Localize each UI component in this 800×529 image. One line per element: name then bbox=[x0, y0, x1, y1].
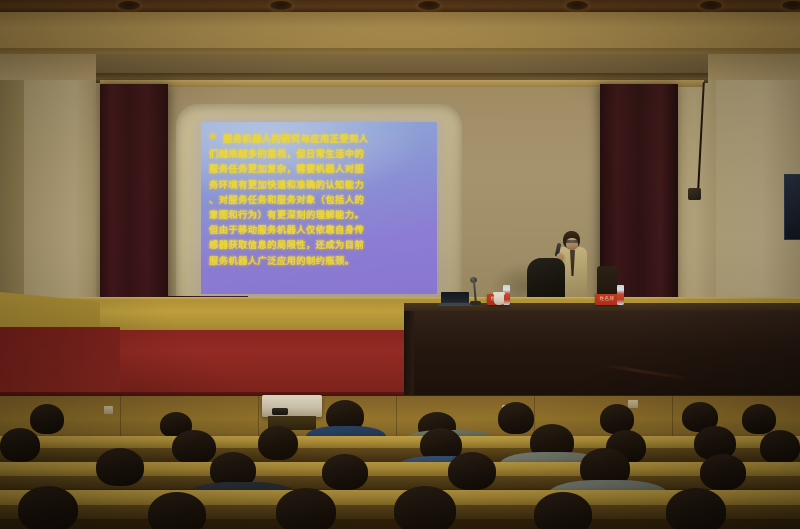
slide-line: 服务任务更加复杂，需要机器人对服 bbox=[209, 162, 429, 177]
slide-text-block: 服务机器人的研究与应用正受到人 们越来越多的重视，但日常生活中的 服务任务更加复… bbox=[201, 122, 437, 294]
desk-microphone-base bbox=[470, 301, 481, 305]
slide-line: 务环境有更加快速和准确的认知能力 bbox=[209, 178, 429, 193]
slide-line: 但由于移动服务机器人仅依靠自身传 bbox=[209, 223, 429, 238]
slide-line: 们越来越多的重视，但日常生活中的 bbox=[209, 147, 429, 162]
laptop-base bbox=[438, 303, 472, 306]
audience-head bbox=[448, 452, 496, 490]
audience-head bbox=[18, 486, 78, 529]
audience-head bbox=[148, 492, 206, 529]
audience-head bbox=[742, 404, 776, 434]
conference-table-side bbox=[404, 311, 414, 395]
downlight-icon bbox=[566, 1, 588, 10]
glasses-icon bbox=[566, 240, 578, 243]
wall-socket-icon bbox=[104, 406, 113, 414]
projected-slide: 服务机器人的研究与应用正受到人 们越来越多的重视，但日常生活中的 服务任务更加复… bbox=[201, 122, 437, 294]
audience-head bbox=[276, 488, 336, 529]
downlight-icon bbox=[782, 1, 800, 10]
audience-head bbox=[96, 448, 144, 486]
projector-lens-icon bbox=[272, 408, 288, 415]
audience-head bbox=[258, 426, 298, 460]
name-plate-label: 姓名牌 bbox=[595, 294, 619, 305]
audience-head bbox=[498, 402, 534, 434]
audience-head bbox=[172, 430, 216, 464]
downlight-icon bbox=[270, 1, 292, 10]
conference-table-skirt bbox=[404, 311, 800, 395]
camera-bracket-icon bbox=[688, 188, 701, 200]
projector bbox=[262, 395, 322, 417]
stage-curtain-left bbox=[100, 84, 168, 322]
audience-head bbox=[30, 404, 64, 434]
audience-head bbox=[666, 488, 726, 529]
downlight-icon bbox=[418, 1, 440, 10]
audience-head bbox=[322, 454, 368, 490]
slide-line: 服务机器人的研究与应用正受到人 bbox=[209, 132, 429, 147]
tea-cup-lid bbox=[493, 292, 505, 295]
slide-line: 服务机器人广泛应用的制约瓶颈。 bbox=[209, 254, 429, 269]
slide-line: 感器获取信息的局限性，还成为目前 bbox=[209, 238, 429, 253]
slide-line: 、对服务任务和服务对象（包括人的 bbox=[209, 193, 429, 208]
water-bottle bbox=[503, 285, 510, 305]
name-plate: 姓名牌 bbox=[595, 294, 619, 305]
audience-head bbox=[700, 454, 746, 490]
audience-head bbox=[0, 428, 40, 462]
downlight-icon bbox=[118, 1, 140, 10]
ceiling-beam bbox=[0, 12, 800, 50]
water-bottle bbox=[617, 285, 624, 305]
wall-monitor bbox=[784, 174, 800, 240]
tea-cup bbox=[494, 294, 504, 305]
audience-head bbox=[534, 492, 592, 529]
audience-head bbox=[760, 430, 800, 464]
auditorium-scene: 服务机器人的研究与应用正受到人 们越来越多的重视，但日常生活中的 服务任务更加复… bbox=[0, 0, 800, 529]
audience-head bbox=[394, 486, 456, 529]
downlight-icon bbox=[700, 1, 722, 10]
stage-floor-left bbox=[0, 327, 120, 397]
slide-line: 意图和行为）有更深刻的理解能力。 bbox=[209, 208, 429, 223]
wall-socket-icon bbox=[628, 400, 638, 408]
left-wall-panel-inner bbox=[24, 80, 96, 330]
